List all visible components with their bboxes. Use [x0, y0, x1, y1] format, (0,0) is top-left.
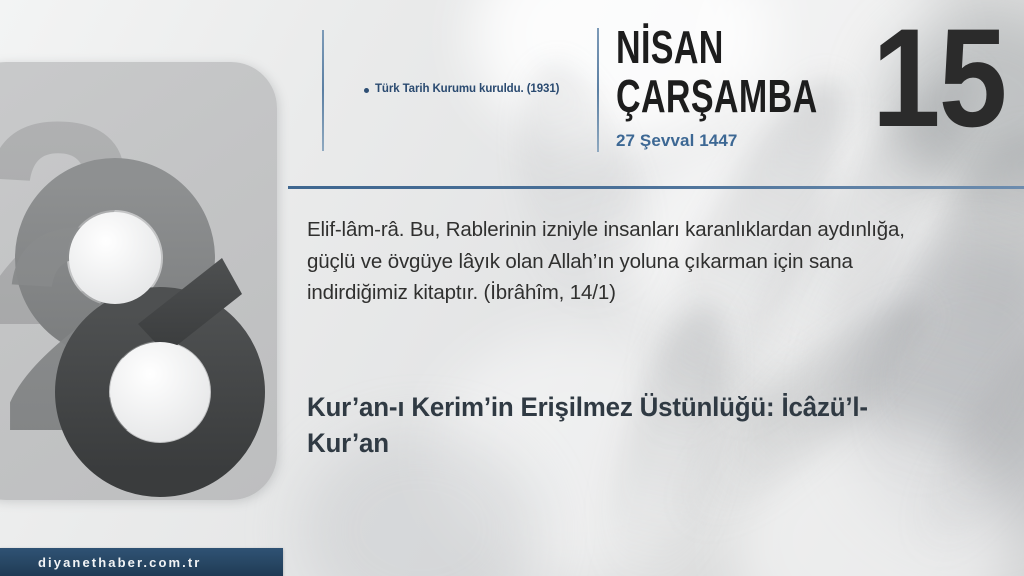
header-bottom-rule — [288, 186, 1024, 189]
year-logo-panel: 2 2 — [0, 62, 277, 500]
quran-verse-text: Elif-lâm-râ. Bu, Rablerinin izniyle insa… — [307, 214, 957, 309]
footer-bar: diyanethaber.com.tr — [0, 548, 283, 576]
historical-event: Türk Tarih Kurumu kuruldu. (1931) — [364, 82, 579, 96]
header-divider-left — [322, 30, 324, 151]
date-block: NİSAN ÇARŞAMBA 27 Şevval 1447 — [616, 26, 888, 151]
weekday-label: ÇARŞAMBA — [616, 75, 818, 118]
day-number: 15 — [872, 8, 1006, 148]
year-2026-logo-icon: 2 2 — [0, 62, 277, 500]
calendar-page: 2 2 Türk Tarih Kurumu kuruldu. (1931) Nİ… — [0, 0, 1024, 576]
header-divider-right — [597, 28, 599, 152]
article-headline: Kur’an-ı Kerim’in Erişilmez Üstünlüğü: İ… — [307, 390, 921, 462]
hijri-date: 27 Şevval 1447 — [616, 131, 888, 151]
bullet-dot-icon — [364, 88, 369, 93]
month-label: NİSAN — [616, 26, 818, 69]
historical-event-text: Türk Tarih Kurumu kuruldu. (1931) — [375, 82, 559, 96]
site-url: diyanethaber.com.tr — [38, 555, 201, 570]
